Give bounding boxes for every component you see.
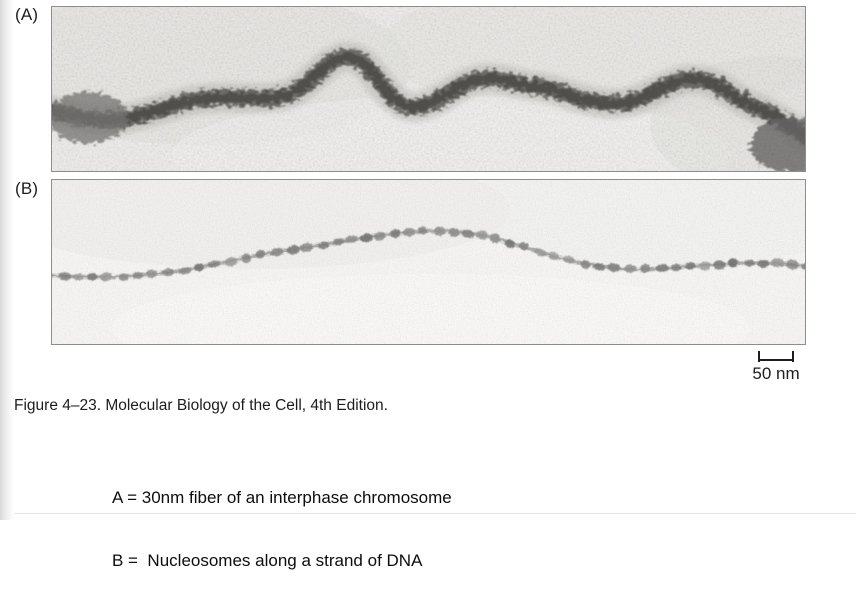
scale-bar: 50 nm (735, 349, 817, 384)
micrograph-image-a (52, 7, 805, 171)
scale-bar-label: 50 nm (735, 364, 817, 384)
figure-legend: A = 30nm fiber of an interphase chromoso… (112, 445, 452, 613)
figure-caption: Figure 4–23. Molecular Biology of the Ce… (14, 396, 388, 415)
legend-line-b: B = Nucleosomes along a strand of DNA (112, 550, 452, 571)
scale-bar-bracket-icon (758, 349, 794, 361)
scale-bar-tick-right (792, 351, 794, 362)
micrograph-panel-a (51, 6, 806, 172)
page-left-edge-shading (0, 0, 15, 520)
legend-line-a: A = 30nm fiber of an interphase chromoso… (112, 487, 452, 508)
micrograph-image-b (52, 180, 805, 344)
panel-label-a: (A) (15, 5, 38, 25)
figure-page: (A) (0, 0, 856, 520)
micrograph-panel-b (51, 179, 806, 345)
panel-label-b: (B) (15, 179, 38, 199)
scale-bar-rule (758, 359, 794, 361)
